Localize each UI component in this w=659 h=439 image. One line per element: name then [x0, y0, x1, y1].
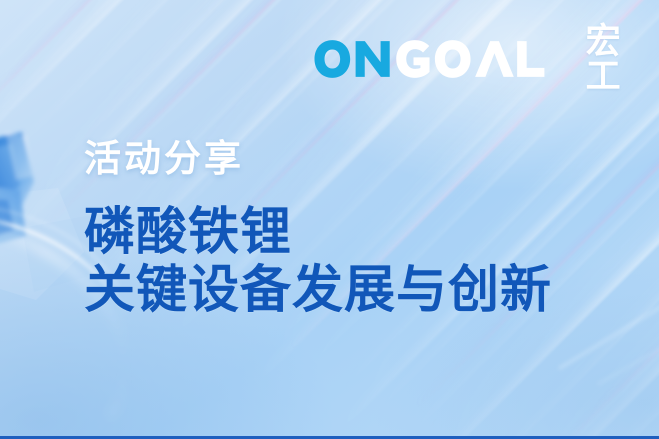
logo-chinese-name: 宏工: [586, 25, 659, 95]
title-line-2: 关键设备发展与创新: [84, 262, 552, 320]
title-line-1: 磷酸铁锂: [84, 204, 552, 262]
ongoal-logo: 宏工: [313, 38, 659, 82]
page-title: 磷酸铁锂 关键设备发展与创新: [84, 204, 552, 320]
pale-facet-shape: [0, 188, 96, 300]
ongoal-wordmark-icon: [313, 38, 571, 82]
promo-banner: 宏工 活动分享 磷酸铁锂 关键设备发展与创新: [0, 0, 659, 439]
eyebrow-label: 活动分享: [84, 136, 244, 182]
blue-crystal-shard: [0, 132, 34, 244]
lower-right-streak: [560, 300, 659, 384]
